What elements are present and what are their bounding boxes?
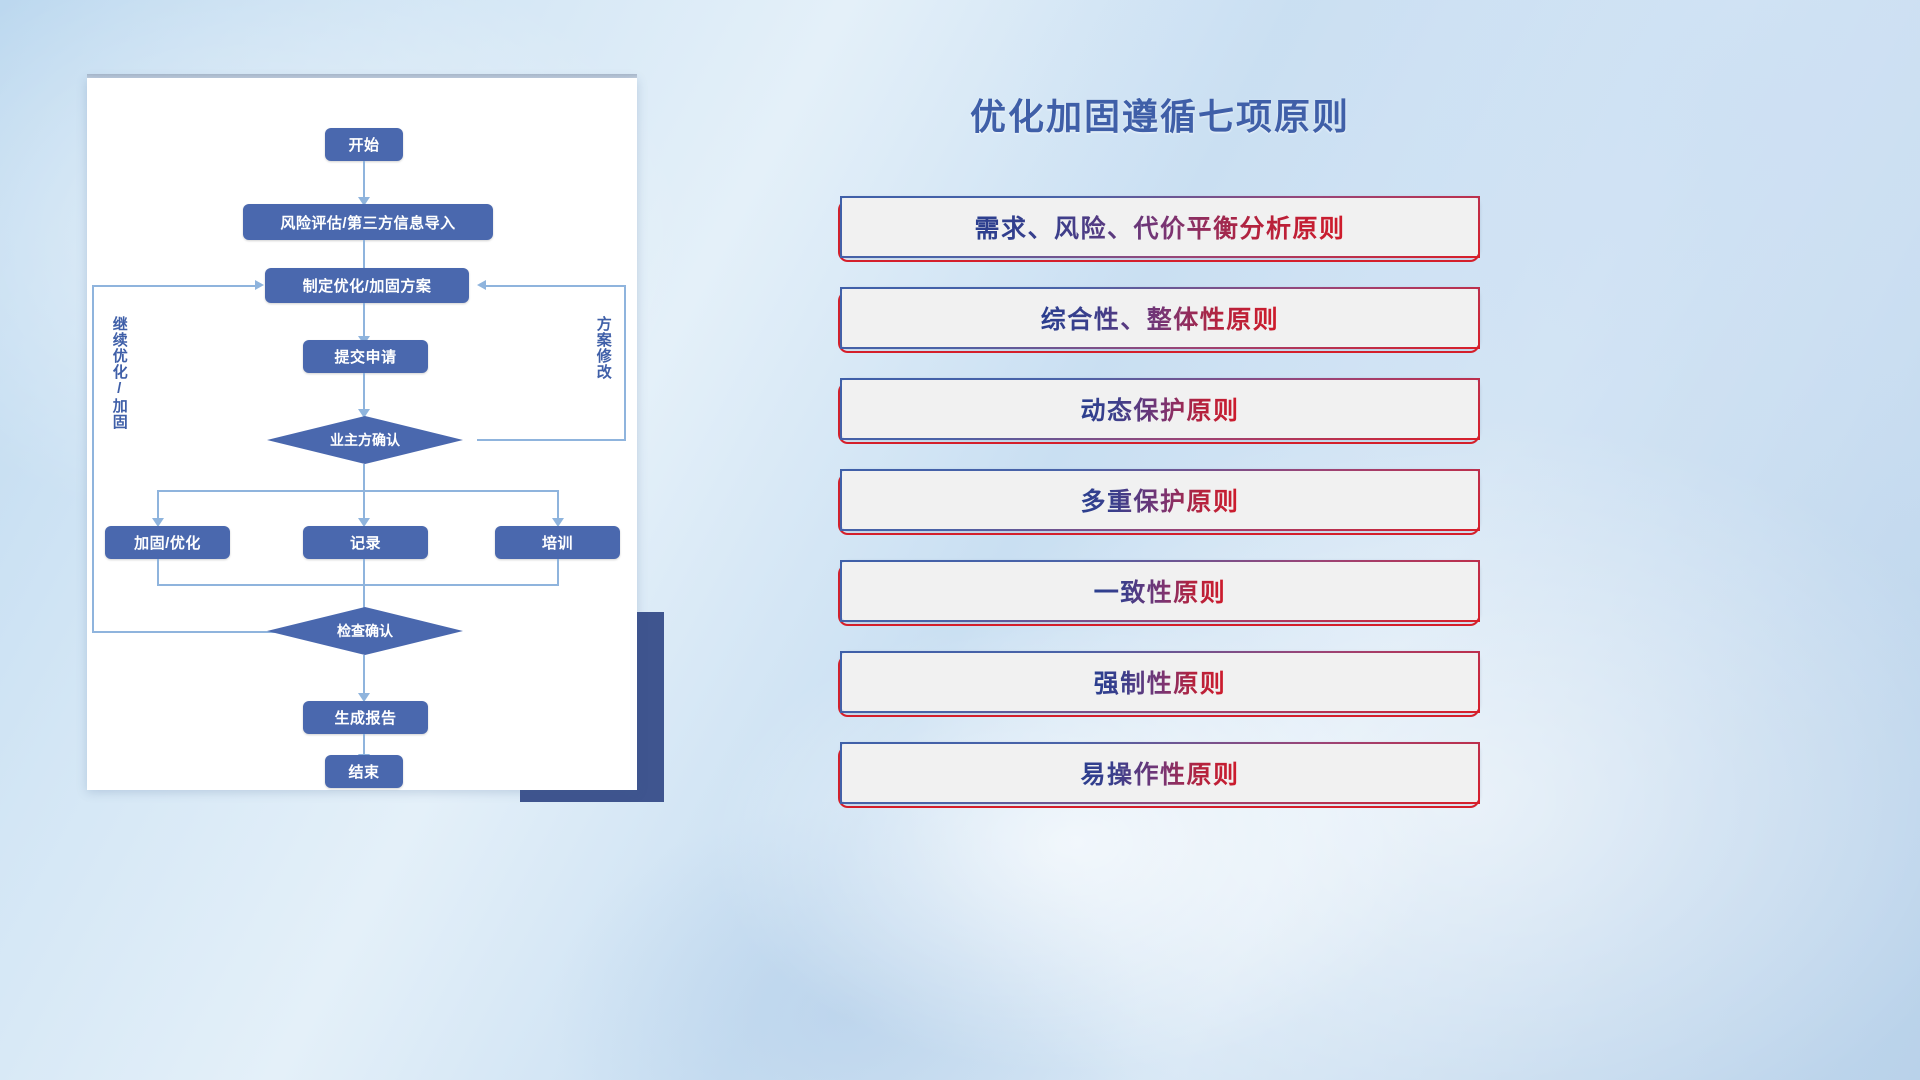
principle-box[interactable]: 动态保护原则 <box>840 378 1480 440</box>
edge-label-continue-optimize: 继续优化/加固 <box>111 316 127 456</box>
principle-box[interactable]: 强制性原则 <box>840 651 1480 713</box>
edge-owner-down <box>363 464 365 525</box>
edge-label-plan-revision: 方案修改 <box>595 316 611 426</box>
loop-right-arrow-icon <box>477 280 486 290</box>
flow-node-reinforce[interactable]: 加固/优化 <box>105 526 230 559</box>
loop-right-vertical-line <box>624 285 626 441</box>
flow-node-report[interactable]: 生成报告 <box>303 701 428 734</box>
flow-node-check-confirm-label: 检查确认 <box>337 621 393 641</box>
page-title: 优化加固遵循七项原则 <box>840 88 1480 140</box>
principle-box[interactable]: 易操作性原则 <box>840 742 1480 804</box>
flow-node-plan[interactable]: 制定优化/加固方案 <box>265 268 469 303</box>
principle-label: 需求、风险、代价平衡分析原则 <box>974 209 1345 245</box>
flow-node-submit[interactable]: 提交申请 <box>303 340 428 373</box>
principle-item[interactable]: 强制性原则 <box>838 651 1478 713</box>
flowchart-card: 开始 风险评估/第三方信息导入 制定优化/加固方案 提交申请 业主方确认 加固/… <box>87 78 637 790</box>
loop-left-top-line <box>92 285 257 287</box>
principle-box[interactable]: 多重保护原则 <box>840 469 1480 531</box>
principle-label: 一致性原则 <box>1094 573 1227 609</box>
flow-node-start-label: 开始 <box>348 134 379 155</box>
loop-right-bottom-line <box>477 439 625 441</box>
principle-item[interactable]: 多重保护原则 <box>838 469 1478 531</box>
principle-label: 动态保护原则 <box>1080 391 1239 427</box>
principle-item[interactable]: 需求、风险、代价平衡分析原则 <box>838 196 1478 258</box>
edge-merge-line <box>157 584 558 586</box>
flow-node-training[interactable]: 培训 <box>495 526 620 559</box>
flow-node-record[interactable]: 记录 <box>303 526 428 559</box>
flow-node-end-label: 结束 <box>348 761 379 782</box>
principle-item[interactable]: 综合性、整体性原则 <box>838 287 1478 349</box>
flow-node-reinforce-label: 加固/优化 <box>134 532 201 553</box>
principle-box[interactable]: 综合性、整体性原则 <box>840 287 1480 349</box>
principle-item[interactable]: 动态保护原则 <box>838 378 1478 440</box>
edge-reinforce-down <box>157 559 159 586</box>
flow-node-start[interactable]: 开始 <box>325 128 403 161</box>
principle-label: 综合性、整体性原则 <box>1041 300 1280 336</box>
edge-owner-split-line <box>157 490 558 492</box>
flow-node-record-label: 记录 <box>350 532 381 553</box>
loop-left-arrow-icon <box>255 280 264 290</box>
principle-label: 易操作性原则 <box>1080 755 1239 791</box>
edge-training-down <box>557 559 559 586</box>
flow-node-owner-confirm[interactable]: 业主方确认 <box>267 416 463 464</box>
principle-box[interactable]: 一致性原则 <box>840 560 1480 622</box>
flow-node-end[interactable]: 结束 <box>325 755 403 788</box>
principle-label: 多重保护原则 <box>1080 482 1239 518</box>
flow-node-risk-assessment-label: 风险评估/第三方信息导入 <box>280 212 455 233</box>
flow-node-report-label: 生成报告 <box>334 707 396 728</box>
flow-node-risk-assessment[interactable]: 风险评估/第三方信息导入 <box>243 204 493 240</box>
flow-node-owner-confirm-label: 业主方确认 <box>330 430 400 450</box>
flow-node-training-label: 培训 <box>542 532 573 553</box>
principle-box[interactable]: 需求、风险、代价平衡分析原则 <box>840 196 1480 258</box>
flow-node-submit-label: 提交申请 <box>334 346 396 367</box>
principle-item[interactable]: 一致性原则 <box>838 560 1478 622</box>
flow-node-check-confirm[interactable]: 检查确认 <box>267 607 463 655</box>
principle-label: 强制性原则 <box>1094 664 1227 700</box>
loop-right-top-line <box>485 285 625 287</box>
loop-left-vertical-line <box>92 285 94 633</box>
flow-node-plan-label: 制定优化/加固方案 <box>303 275 432 296</box>
principle-item[interactable]: 易操作性原则 <box>838 742 1478 804</box>
